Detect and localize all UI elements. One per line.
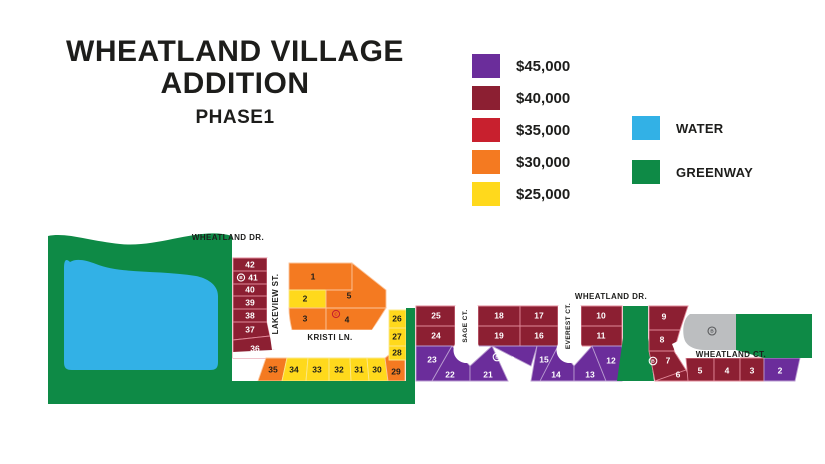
plat-map-page: WHEATLAND VILLAGE ADDITION PHASE1 $45,00… [0, 0, 825, 464]
lot-34[interactable] [282, 358, 308, 381]
lot-11[interactable] [581, 326, 622, 346]
greenway-divider-2 [617, 306, 654, 381]
lot-39[interactable] [233, 296, 267, 309]
legend-item-price-45000: $45,000 [472, 50, 570, 82]
legend-swatch-40000 [472, 86, 500, 110]
lot-42[interactable] [233, 258, 267, 271]
lot-41[interactable] [233, 271, 267, 284]
legend-swatch-30000 [472, 150, 500, 174]
lot-25[interactable] [416, 306, 455, 326]
legend-label-greenway: GREENWAY [676, 165, 753, 180]
title-phase: PHASE1 [40, 107, 430, 129]
greenway-divider-1 [406, 308, 415, 381]
street-label-sage-ct: SAGE CT. [462, 309, 469, 342]
legend-swatch-35000 [472, 118, 500, 142]
legend-item-price-40000: $40,000 [472, 82, 570, 114]
lot-19[interactable] [478, 326, 520, 346]
legend-item-water: WATER [632, 106, 753, 150]
lot-block-sage-everest: 25 24 23 22 21 20 19 18 17 16 15 14 13 1… [416, 306, 622, 381]
legend-item-greenway: GREENWAY [632, 150, 753, 194]
legend-label-35000: $35,000 [516, 122, 570, 139]
lot-28[interactable] [389, 346, 406, 360]
lot-31[interactable] [350, 358, 369, 381]
lot-27[interactable] [389, 328, 406, 346]
lot-4b[interactable] [714, 358, 740, 381]
plat-map: 42 41 40 39 38 37 36 B LAKEVIEW ST. 1 2 … [0, 218, 825, 418]
lot-17[interactable] [520, 306, 558, 326]
street-label-everest-ct: EVEREST CT. [565, 303, 572, 349]
greenway-strip-south [48, 381, 415, 404]
street-label-wheatland-dr-east: WHEATLAND DR. [575, 292, 647, 301]
lot-30[interactable] [367, 358, 388, 381]
lot-5b[interactable] [686, 358, 714, 381]
lot-1[interactable] [289, 263, 352, 290]
lot-2[interactable] [289, 290, 326, 308]
street-label-wheatland-ct: WHEATLAND CT. [696, 350, 766, 359]
lot-block-kristi-north: 1 2 3 4 5 C [289, 263, 386, 330]
legend-swatch-25000 [472, 182, 500, 206]
legend-label-30000: $30,000 [516, 154, 570, 171]
lot-32[interactable] [329, 358, 351, 381]
water-pond [64, 260, 218, 370]
street-label-kristi-ln: KRISTI LN. [307, 333, 352, 342]
lot-38[interactable] [233, 309, 267, 322]
street-label-wheatland-dr-west: WHEATLAND DR. [192, 233, 264, 242]
lot-2b[interactable] [764, 358, 800, 381]
legend-item-price-25000: $25,000 [472, 178, 570, 210]
title-line-2: ADDITION [40, 68, 430, 100]
lot-40[interactable] [233, 284, 267, 296]
legend-label-water: WATER [676, 121, 723, 136]
legend-label-45000: $45,000 [516, 58, 570, 75]
lot-16[interactable] [520, 326, 558, 346]
legend-item-price-35000: $35,000 [472, 114, 570, 146]
lot-10[interactable] [581, 306, 622, 326]
lot-26[interactable] [389, 310, 406, 328]
lot-block-east-yellow: 28 27 26 [389, 310, 406, 360]
lot-33[interactable] [306, 358, 329, 381]
marker-b-lot-20-label: B [495, 355, 499, 360]
legend-label-25000: $25,000 [516, 186, 570, 203]
price-legend: $45,000 $40,000 $35,000 $30,000 $25,000 [472, 50, 570, 210]
legend-item-price-30000: $30,000 [472, 146, 570, 178]
legend-label-40000: $40,000 [516, 90, 570, 107]
page-title: WHEATLAND VILLAGE ADDITION PHASE1 [40, 36, 430, 129]
lot-24[interactable] [416, 326, 455, 346]
legend-swatch-greenway [632, 160, 660, 184]
lot-18[interactable] [478, 306, 520, 326]
legend-swatch-water [632, 116, 660, 140]
street-label-lakeview-st: LAKEVIEW ST. [271, 274, 280, 335]
lot-3[interactable] [289, 308, 326, 330]
lot-3b[interactable] [740, 358, 764, 381]
title-line-1: WHEATLAND VILLAGE [40, 36, 430, 68]
feature-legend: WATER GREENWAY [632, 106, 753, 194]
lot-9[interactable] [649, 306, 688, 330]
legend-swatch-45000 [472, 54, 500, 78]
